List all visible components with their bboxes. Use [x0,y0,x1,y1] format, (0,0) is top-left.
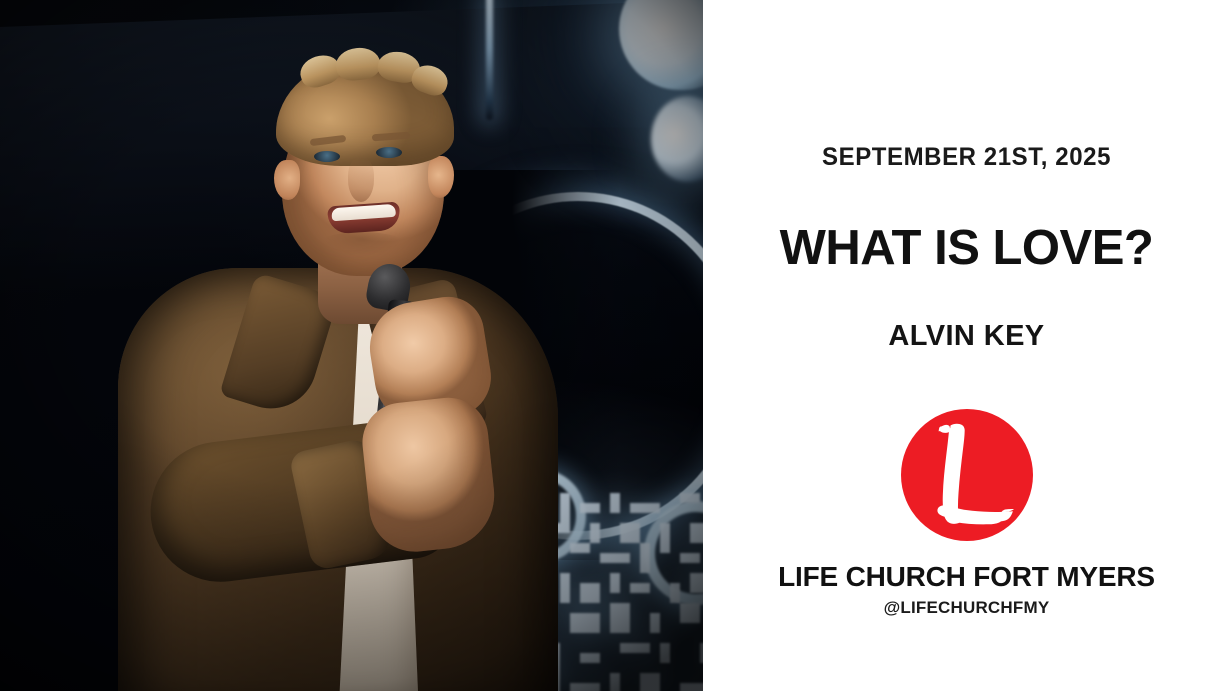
ear-right [428,156,454,198]
hand-lower [359,394,500,556]
speaker-photo [0,0,703,691]
eye-right [376,147,402,158]
speaker-name: ALVIN KEY [888,322,1044,351]
ear-left [274,160,300,200]
church-logo [901,409,1033,541]
info-panel: SEPTEMBER 21ST, 2025 WHAT IS LOVE? ALVIN… [703,0,1230,691]
nose [348,158,374,202]
page-title: WHAT IS LOVE? [780,224,1154,273]
logo-l-brushstroke-icon [901,409,1033,541]
sermon-title-slide: SEPTEMBER 21ST, 2025 WHAT IS LOVE? ALVIN… [0,0,1230,691]
teeth [331,204,396,221]
church-social-handle: @LIFECHURCHFMY [884,599,1050,616]
event-date: SEPTEMBER 21ST, 2025 [822,145,1111,170]
speaker-figure [0,0,703,691]
church-name: LIFE CHURCH FORT MYERS [778,563,1155,591]
chin-shadow [310,232,414,268]
eye-left [314,151,340,162]
